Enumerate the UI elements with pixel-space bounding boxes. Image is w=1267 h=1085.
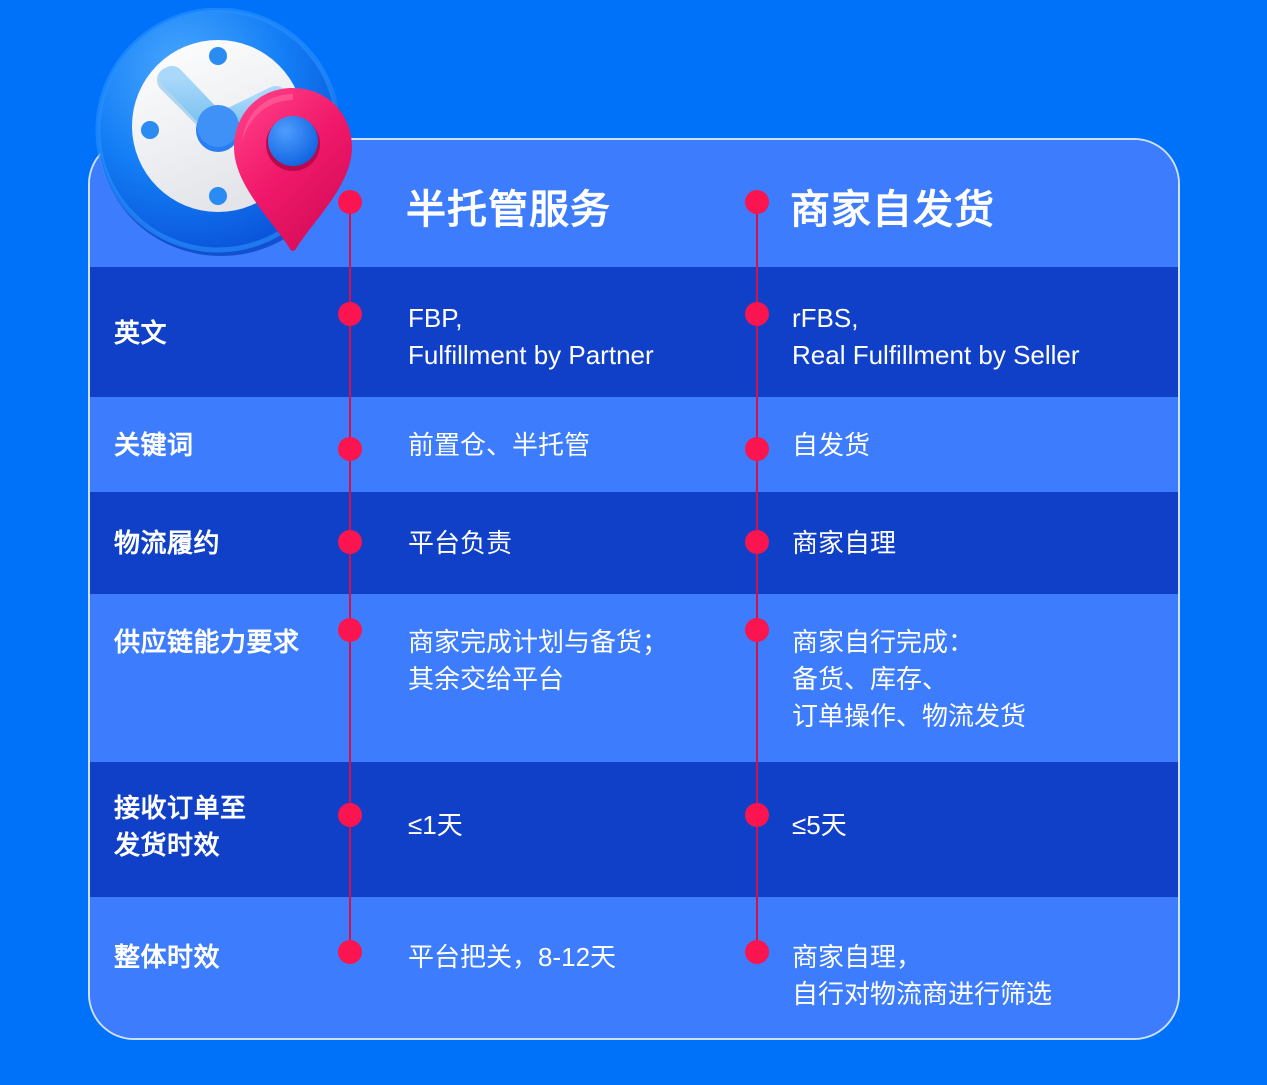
table-row: 英文 FBP, Fulfillment by Partner rFBS, Rea… bbox=[90, 267, 1178, 397]
row-label: 物流履约 bbox=[114, 525, 364, 562]
header-col2-title: 商家自发货 bbox=[790, 182, 1180, 239]
row-col2-value: rFBS, Real Fulfillment by Seller bbox=[792, 300, 1180, 374]
header-col1-title: 半托管服务 bbox=[406, 182, 756, 239]
timeline-dot bbox=[745, 530, 769, 554]
row-col1-value: 平台把关，8-12天 bbox=[408, 939, 758, 976]
timeline-dot bbox=[745, 302, 769, 326]
row-col2-value: 商家自理， 自行对物流商进行筛选 bbox=[792, 939, 1180, 1013]
timeline-dot bbox=[338, 618, 362, 642]
row-col1-value: ≤1天 bbox=[408, 807, 758, 844]
row-col1-value: 前置仓、半托管 bbox=[408, 427, 758, 464]
timeline-dot bbox=[338, 302, 362, 326]
comparison-table-card: 半托管服务 商家自发货 英文 FBP, Fulfillment by Partn… bbox=[88, 138, 1180, 1040]
row-label: 供应链能力要求 bbox=[114, 624, 364, 661]
table-row: 供应链能力要求 商家完成计划与备货； 其余交给平台 商家自行完成： 备货、库存、… bbox=[90, 594, 1178, 762]
timeline-dot bbox=[745, 618, 769, 642]
table-row: 接收订单至 发货时效 ≤1天 ≤5天 bbox=[90, 762, 1178, 897]
row-col2-value: 商家自理 bbox=[792, 525, 1180, 562]
timeline-dot bbox=[745, 940, 769, 964]
row-col1-value: FBP, Fulfillment by Partner bbox=[408, 300, 758, 374]
row-col2-value: ≤5天 bbox=[792, 807, 1180, 844]
timeline-dot bbox=[338, 437, 362, 461]
row-col1-value: 商家完成计划与备货； 其余交给平台 bbox=[408, 624, 758, 698]
table-row: 关键词 前置仓、半托管 自发货 bbox=[90, 397, 1178, 492]
row-label: 英文 bbox=[114, 315, 364, 352]
location-pin-icon bbox=[228, 82, 358, 262]
timeline-dot bbox=[745, 437, 769, 461]
row-label: 整体时效 bbox=[114, 939, 364, 976]
row-col2-value: 商家自行完成： 备货、库存、 订单操作、物流发货 bbox=[792, 624, 1180, 735]
timeline-dot bbox=[745, 190, 769, 214]
table-row: 物流履约 平台负责 商家自理 bbox=[90, 492, 1178, 594]
row-col2-value: 自发货 bbox=[792, 427, 1180, 464]
row-label: 关键词 bbox=[114, 427, 364, 464]
timeline-dot bbox=[338, 530, 362, 554]
timeline-dot bbox=[338, 940, 362, 964]
timeline-dot bbox=[338, 803, 362, 827]
table-row: 整体时效 平台把关，8-12天 商家自理， 自行对物流商进行筛选 bbox=[90, 897, 1178, 1040]
row-col1-value: 平台负责 bbox=[408, 525, 758, 562]
timeline-dot bbox=[745, 803, 769, 827]
row-label: 接收订单至 发货时效 bbox=[114, 790, 364, 864]
